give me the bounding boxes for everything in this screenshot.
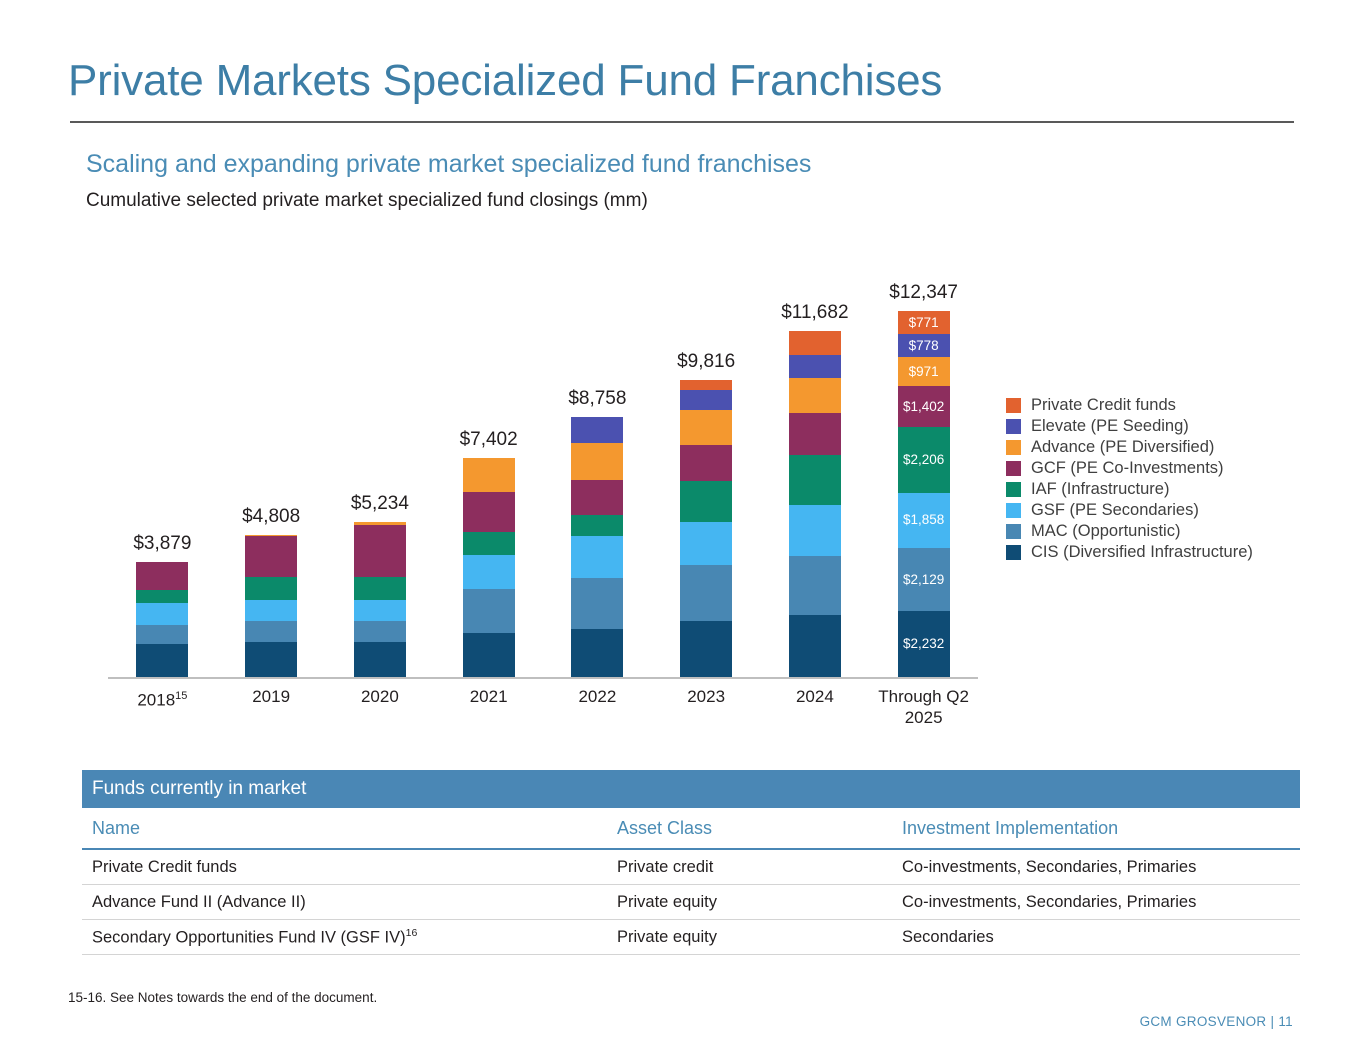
table-body: Private Credit fundsPrivate creditCo-inv… [82,850,1300,955]
bar-segment-elevate[interactable] [680,390,732,410]
bar-segment-advance[interactable] [571,443,623,480]
bar-segment-gcf[interactable] [245,536,297,577]
stacked-bar[interactable] [680,380,732,677]
chart-x-axis [108,677,978,679]
stacked-bar[interactable] [136,562,188,677]
legend-item[interactable]: Elevate (PE Seeding) [1006,416,1253,437]
bar-group: $9,816 [651,265,761,677]
table-title: Funds currently in market [82,770,1300,808]
column-header-name: Name [92,818,617,839]
bar-segment-cis[interactable] [463,633,515,677]
bar-segment-gcf[interactable] [354,525,406,577]
slide: Private Markets Specialized Fund Franchi… [0,0,1365,1055]
cell-investment-implementation: Secondaries [902,928,1300,947]
bar-segment-iaf[interactable] [245,577,297,600]
bar-total-label: $9,816 [677,351,735,373]
bar-group: $8,758 [542,265,652,677]
bar-segment-gsf[interactable] [680,522,732,565]
bar-segment-private_credit[interactable] [680,380,732,390]
bar-segment-gsf[interactable] [136,603,188,626]
cell-name: Secondary Opportunities Fund IV (GSF IV)… [92,927,617,948]
legend-item[interactable]: GCF (PE Co-Investments) [1006,458,1253,479]
bar-segment-elevate[interactable]: $778 [898,334,950,357]
x-axis-label-8: Through Q22025 [869,686,979,728]
legend-swatch-icon [1006,503,1021,518]
bar-segment-private_credit[interactable] [789,331,841,355]
bar-segment-cis[interactable] [136,644,188,677]
segment-value-label: $2,129 [903,573,944,587]
legend-label: GCF (PE Co-Investments) [1031,459,1224,478]
legend-label: Advance (PE Diversified) [1031,438,1214,457]
bar-segment-advance[interactable] [789,378,841,414]
bar-segment-iaf[interactable]: $2,206 [898,427,950,492]
table-column-header-row: Name Asset Class Investment Implementati… [82,808,1300,850]
legend-swatch-icon [1006,440,1021,455]
cell-investment-implementation: Co-investments, Secondaries, Primaries [902,858,1300,877]
bar-group: $11,682 [760,265,870,677]
legend-swatch-icon [1006,419,1021,434]
bar-segment-cis[interactable] [354,642,406,677]
bar-segment-mac[interactable]: $2,129 [898,548,950,611]
x-axis-label-3: 2020 [325,686,435,707]
bar-segment-advance[interactable]: $971 [898,357,950,386]
stacked-bar[interactable] [789,331,841,677]
column-header-asset-class: Asset Class [617,818,902,839]
segment-value-label: $1,402 [903,400,944,414]
bar-segment-gcf[interactable] [463,492,515,532]
legend-swatch-icon [1006,524,1021,539]
bar-segment-gsf[interactable]: $1,858 [898,493,950,548]
bar-segment-mac[interactable] [245,621,297,641]
legend-swatch-icon [1006,461,1021,476]
legend-swatch-icon [1006,398,1021,413]
chart: $3,879$4,808$5,234$7,402$8,758$9,816$11,… [0,0,1000,760]
bar-segment-cis[interactable] [789,615,841,677]
bar-segment-cis[interactable] [245,642,297,677]
bar-segment-advance[interactable] [680,410,732,446]
bar-segment-cis[interactable] [680,621,732,677]
legend-item[interactable]: GSF (PE Secondaries) [1006,500,1253,521]
bar-segment-iaf[interactable] [136,590,188,602]
cell-asset-class: Private equity [617,893,902,912]
chart-plot-area: $3,879$4,808$5,234$7,402$8,758$9,816$11,… [108,265,978,677]
legend-label: GSF (PE Secondaries) [1031,501,1199,520]
cell-investment-implementation: Co-investments, Secondaries, Primaries [902,893,1300,912]
cell-name: Private Credit funds [92,858,617,877]
cell-asset-class: Private credit [617,858,902,877]
bar-segment-iaf[interactable] [789,455,841,505]
bar-total-label: $3,879 [133,533,191,555]
brand-pagenumber: GCM GROSVENOR | 11 [1140,1014,1293,1029]
legend-item[interactable]: CIS (Diversified Infrastructure) [1006,542,1253,563]
segment-value-label: $2,232 [903,637,944,651]
bar-group: $7,402 [434,265,544,677]
cell-name-footnote: 16 [406,927,418,939]
bar-segment-private_credit[interactable]: $771 [898,311,950,334]
bar-segment-gcf[interactable] [789,413,841,454]
bar-segment-cis[interactable]: $2,232 [898,611,950,677]
segment-value-label: $771 [909,316,939,330]
table-row[interactable]: Private Credit fundsPrivate creditCo-inv… [82,850,1300,885]
bar-segment-gsf[interactable] [789,505,841,556]
bar-segment-elevate[interactable] [789,355,841,378]
footnote: 15-16. See Notes towards the end of the … [68,990,377,1005]
legend-item[interactable]: IAF (Infrastructure) [1006,479,1253,500]
bar-segment-mac[interactable] [354,621,406,641]
legend-label: Elevate (PE Seeding) [1031,417,1189,436]
bar-segment-cis[interactable] [571,629,623,677]
legend-item[interactable]: Advance (PE Diversified) [1006,437,1253,458]
bar-total-label: $4,808 [242,506,300,528]
stacked-bar[interactable]: $771$778$971$1,402$2,206$1,858$2,129$2,2… [898,311,950,677]
legend-item[interactable]: Private Credit funds [1006,395,1253,416]
legend-swatch-icon [1006,482,1021,497]
x-axis-label-footnote: 15 [175,690,187,702]
bar-segment-iaf[interactable] [463,532,515,555]
segment-value-label: $778 [909,339,939,353]
stacked-bar[interactable] [463,458,515,677]
bar-total-label: $11,682 [781,302,848,324]
bar-segment-mac[interactable] [680,565,732,621]
stacked-bar[interactable] [571,417,623,677]
bar-total-label: $5,234 [351,493,409,515]
bar-segment-mac[interactable] [571,578,623,629]
cell-asset-class: Private equity [617,928,902,947]
x-axis-label-1: 201815 [107,686,217,711]
table-row[interactable]: Secondary Opportunities Fund IV (GSF IV)… [82,920,1300,955]
table-row[interactable]: Advance Fund II (Advance II)Private equi… [82,885,1300,920]
bar-group: $3,879 [107,265,217,677]
segment-value-label: $971 [909,365,939,379]
column-header-investment-implementation: Investment Implementation [902,818,1300,839]
legend-label: CIS (Diversified Infrastructure) [1031,543,1253,562]
bar-segment-iaf[interactable] [680,481,732,522]
bar-segment-gcf[interactable] [136,562,188,590]
x-axis-label-4: 2021 [434,686,544,707]
segment-value-label: $2,206 [903,453,944,467]
bar-total-label: $12,347 [889,282,958,304]
bar-segment-gsf[interactable] [571,536,623,578]
x-axis-label-5: 2022 [542,686,652,707]
funds-table: Funds currently in market Name Asset Cla… [82,770,1300,955]
bar-segment-gcf[interactable] [571,480,623,516]
x-axis-label-7: 2024 [760,686,870,707]
bar-segment-gsf[interactable] [245,600,297,621]
stacked-bar[interactable] [245,535,297,677]
x-axis-label-6: 2023 [651,686,761,707]
chart-legend: Private Credit fundsElevate (PE Seeding)… [1006,395,1253,563]
legend-label: IAF (Infrastructure) [1031,480,1169,499]
bar-segment-iaf[interactable] [354,577,406,601]
legend-swatch-icon [1006,545,1021,560]
bar-segment-gsf[interactable] [354,600,406,621]
legend-label: Private Credit funds [1031,396,1176,415]
bar-segment-advance[interactable] [463,458,515,492]
bar-group: $5,234 [325,265,435,677]
stacked-bar[interactable] [354,522,406,677]
segment-value-label: $1,858 [903,513,944,527]
cell-name: Advance Fund II (Advance II) [92,893,617,912]
legend-item[interactable]: MAC (Opportunistic) [1006,521,1253,542]
bar-segment-gcf[interactable] [680,445,732,481]
bar-segment-mac[interactable] [789,556,841,615]
bar-segment-mac[interactable] [463,589,515,633]
bar-segment-gcf[interactable]: $1,402 [898,386,950,428]
bar-segment-iaf[interactable] [571,515,623,536]
bar-segment-mac[interactable] [136,625,188,643]
bar-segment-elevate[interactable] [571,417,623,442]
bar-total-label: $7,402 [460,429,518,451]
bar-total-label: $8,758 [568,388,626,410]
bar-group: $12,347$771$778$971$1,402$2,206$1,858$2,… [869,265,979,677]
bar-group: $4,808 [216,265,326,677]
legend-label: MAC (Opportunistic) [1031,522,1180,541]
x-axis-label-2: 2019 [216,686,326,707]
bar-segment-gsf[interactable] [463,555,515,589]
